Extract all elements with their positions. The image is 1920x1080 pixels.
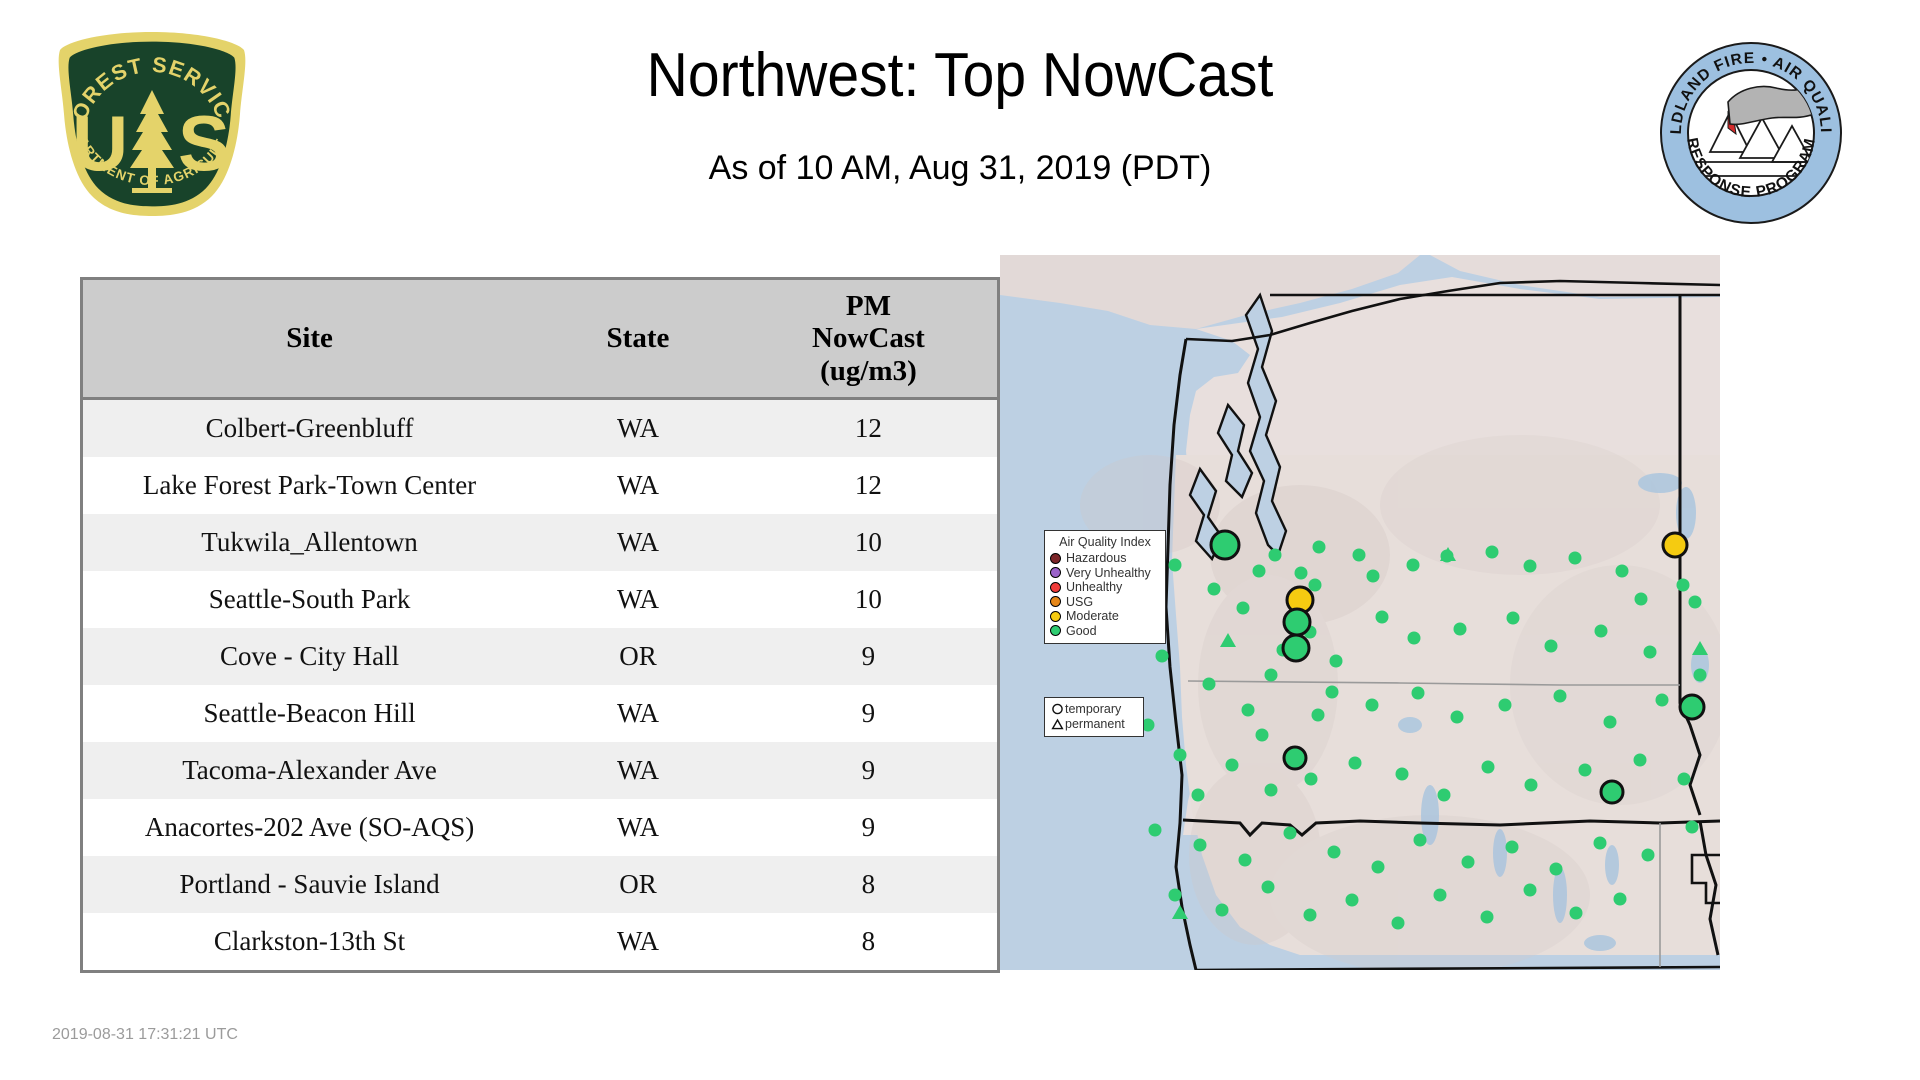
good-site-marker[interactable] [1554,690,1567,703]
wildland-fire-air-quality-logo: WILDLAND FIRE • AIR QUALITY RESPONSE PRO… [1658,40,1844,226]
cell-site: Tukwila_Allentown [83,514,536,571]
good-site-marker[interactable] [1304,909,1317,922]
legend-label-temporary: temporary [1065,702,1121,717]
table-row[interactable]: Lake Forest Park-Town CenterWA12 [83,457,997,514]
page-title: Northwest: Top NowCast [353,45,1567,107]
good-site-marker[interactable] [1507,612,1520,625]
legend-label-permanent: permanent [1065,717,1125,732]
good-site-marker[interactable] [1226,759,1239,772]
cell-site: Seattle-Beacon Hill [83,685,536,742]
us-forest-service-logo: FOREST SERVICE DEPARTMENT OF AGRICULTURE… [52,28,252,220]
good-site-marker[interactable] [1367,570,1380,583]
table-row[interactable]: Seattle-South ParkWA10 [83,571,997,628]
good-site-marker[interactable] [1642,849,1655,862]
circle-icon [1050,703,1065,716]
good-site-marker[interactable] [1462,856,1475,869]
cell-state: WA [536,799,740,856]
aqi-legend-row: USG [1050,595,1160,610]
cell-state: WA [536,399,740,458]
nowcast-table: Site State PM NowCast (ug/m3) Colbert-Gr… [83,280,997,970]
good-site-marker[interactable] [1408,632,1421,645]
good-site-marker[interactable] [1353,549,1366,562]
good-site-marker[interactable] [1392,917,1405,930]
good-site-marker[interactable] [1454,623,1467,636]
table-row[interactable]: Tacoma-Alexander AveWA9 [83,742,997,799]
good-site-marker[interactable] [1346,894,1359,907]
triangle-icon [1050,718,1065,731]
cell-pm: 9 [740,742,997,799]
good-site-marker[interactable] [1656,694,1669,707]
good-site-marker[interactable] [1506,841,1519,854]
top-site-marker[interactable] [1663,533,1687,557]
aqi-color-swatch-icon [1050,553,1061,564]
good-site-marker[interactable] [1482,761,1495,774]
cell-pm: 9 [740,628,997,685]
cell-site: Portland - Sauvie Island [83,856,536,913]
cell-state: OR [536,856,740,913]
good-site-marker[interactable] [1634,754,1647,767]
good-site-marker[interactable] [1414,834,1427,847]
good-site-marker[interactable] [1284,827,1297,840]
good-site-marker[interactable] [1372,861,1385,874]
cell-site: Cove - City Hall [83,628,536,685]
cell-state: WA [536,457,740,514]
good-site-marker[interactable] [1434,889,1447,902]
good-site-marker[interactable] [1694,669,1707,682]
cell-pm: 12 [740,399,997,458]
top-site-marker[interactable] [1680,695,1704,719]
top-site-marker[interactable] [1284,747,1306,769]
good-site-marker[interactable] [1550,863,1563,876]
nowcast-table-container: Site State PM NowCast (ug/m3) Colbert-Gr… [80,277,1000,973]
good-site-marker[interactable] [1194,839,1207,852]
svg-text:S: S [178,99,230,187]
aqi-color-swatch-icon [1050,625,1061,636]
top-site-marker[interactable] [1284,609,1310,635]
table-row[interactable]: Portland - Sauvie IslandOR8 [83,856,997,913]
good-site-marker[interactable] [1686,821,1699,834]
good-site-marker[interactable] [1237,602,1250,615]
table-head: Site State PM NowCast (ug/m3) [83,280,997,399]
cell-state: WA [536,742,740,799]
cell-site: Seattle-South Park [83,571,536,628]
good-site-marker[interactable] [1481,911,1494,924]
good-site-marker[interactable] [1349,757,1362,770]
good-site-marker[interactable] [1594,837,1607,850]
good-site-marker[interactable] [1313,541,1326,554]
good-site-marker[interactable] [1203,678,1216,691]
good-site-marker[interactable] [1441,550,1454,563]
good-site-marker[interactable] [1689,596,1702,609]
aqi-legend-label: USG [1066,595,1093,610]
aqi-legend-row: Moderate [1050,609,1160,624]
good-site-marker[interactable] [1604,716,1617,729]
table-row[interactable]: Clarkston-13th StWA8 [83,913,997,970]
good-site-marker[interactable] [1595,625,1608,638]
good-site-marker[interactable] [1616,565,1629,578]
good-site-marker[interactable] [1192,789,1205,802]
good-site-marker[interactable] [1524,560,1537,573]
good-site-marker[interactable] [1295,567,1308,580]
pm-header-line1: PM [744,290,993,322]
aqi-legend-items: HazardousVery UnhealthyUnhealthyUSGModer… [1050,551,1160,638]
cell-pm: 12 [740,457,997,514]
column-header-state[interactable]: State [536,280,740,399]
good-site-marker[interactable] [1242,704,1255,717]
aqi-legend-label: Very Unhealthy [1066,566,1151,581]
aqi-legend-row: Unhealthy [1050,580,1160,595]
good-site-marker[interactable] [1328,846,1341,859]
good-site-marker[interactable] [1438,789,1451,802]
cell-site: Tacoma-Alexander Ave [83,742,536,799]
aqi-color-swatch-icon [1050,611,1061,622]
cell-pm: 8 [740,913,997,970]
column-header-site[interactable]: Site [83,280,536,399]
good-site-marker[interactable] [1412,687,1425,700]
good-site-marker[interactable] [1305,773,1318,786]
aqi-color-swatch-icon [1050,596,1061,607]
good-site-marker[interactable] [1326,686,1339,699]
cell-state: OR [536,628,740,685]
aqi-legend: Air Quality Index HazardousVery Unhealth… [1044,530,1166,644]
table-row[interactable]: Cove - City HallOR9 [83,628,997,685]
svg-text:U: U [72,99,128,187]
good-site-marker[interactable] [1239,854,1252,867]
column-header-pm-nowcast[interactable]: PM NowCast (ug/m3) [740,280,997,399]
good-site-marker[interactable] [1309,579,1322,592]
aqi-legend-label: Unhealthy [1066,580,1122,595]
good-site-marker[interactable] [1614,893,1627,906]
site-type-legend: temporary permanent [1044,697,1144,737]
good-site-marker[interactable] [1376,611,1389,624]
good-site-marker[interactable] [1525,779,1538,792]
cell-state: WA [536,514,740,571]
good-site-marker[interactable] [1569,552,1582,565]
cell-state: WA [536,685,740,742]
table-row[interactable]: Anacortes-202 Ave (SO-AQS)WA9 [83,799,997,856]
good-site-marker[interactable] [1169,559,1182,572]
good-site-marker[interactable] [1635,593,1648,606]
cell-site: Lake Forest Park-Town Center [83,457,536,514]
page-header: FOREST SERVICE DEPARTMENT OF AGRICULTURE… [0,0,1920,225]
good-site-marker[interactable] [1330,655,1343,668]
table-body: Colbert-GreenbluffWA12Lake Forest Park-T… [83,399,997,971]
cell-site: Anacortes-202 Ave (SO-AQS) [83,799,536,856]
title-block: Northwest: Top NowCast As of 10 AM, Aug … [300,45,1620,188]
good-site-marker[interactable] [1149,824,1162,837]
good-site-marker[interactable] [1269,549,1282,562]
good-site-marker[interactable] [1545,640,1558,653]
air-quality-map[interactable]: Air Quality Index HazardousVery Unhealth… [1000,255,1720,970]
good-site-marker[interactable] [1265,669,1278,682]
good-site-marker[interactable] [1644,646,1657,659]
good-site-marker[interactable] [1312,709,1325,722]
good-site-marker[interactable] [1366,699,1379,712]
aqi-legend-row: Hazardous [1050,551,1160,566]
cell-state: WA [536,571,740,628]
pm-header-line3: (ug/m3) [744,355,993,387]
top-site-marker[interactable] [1211,531,1239,559]
table-header-row: Site State PM NowCast (ug/m3) [83,280,997,399]
cell-site: Clarkston-13th St [83,913,536,970]
good-site-marker[interactable] [1256,729,1269,742]
aqi-color-swatch-icon [1050,582,1061,593]
legend-row-temporary: temporary [1050,702,1138,717]
good-site-marker[interactable] [1499,699,1512,712]
good-site-marker[interactable] [1486,546,1499,559]
legend-row-permanent: permanent [1050,717,1138,732]
cell-pm: 10 [740,514,997,571]
good-site-marker[interactable] [1262,881,1275,894]
table-row[interactable]: Colbert-GreenbluffWA12 [83,399,997,458]
aqi-legend-label: Good [1066,624,1097,639]
good-site-marker[interactable] [1265,784,1278,797]
table-row[interactable]: Tukwila_AllentownWA10 [83,514,997,571]
cell-pm: 10 [740,571,997,628]
top-site-marker[interactable] [1601,781,1623,803]
good-site-marker[interactable] [1451,711,1464,724]
pm-header-line2: NowCast [744,322,993,354]
cell-state: WA [536,913,740,970]
good-site-marker[interactable] [1677,579,1690,592]
cell-pm: 9 [740,685,997,742]
top-site-marker[interactable] [1283,635,1309,661]
good-site-marker[interactable] [1407,559,1420,572]
aqi-legend-title: Air Quality Index [1050,535,1160,549]
good-site-marker[interactable] [1524,884,1537,897]
cell-site: Colbert-Greenbluff [83,399,536,458]
aqi-legend-row: Very Unhealthy [1050,566,1160,581]
page-subtitle: As of 10 AM, Aug 31, 2019 (PDT) [300,149,1620,188]
good-site-marker[interactable] [1174,749,1187,762]
good-site-marker[interactable] [1678,773,1691,786]
good-site-marker[interactable] [1208,583,1221,596]
good-site-marker[interactable] [1396,768,1409,781]
generation-timestamp: 2019-08-31 17:31:21 UTC [52,1026,238,1044]
good-site-marker[interactable] [1570,907,1583,920]
table-row[interactable]: Seattle-Beacon HillWA9 [83,685,997,742]
cell-pm: 9 [740,799,997,856]
aqi-legend-label: Moderate [1066,609,1119,624]
good-site-marker[interactable] [1169,889,1182,902]
cell-pm: 8 [740,856,997,913]
aqi-color-swatch-icon [1050,567,1061,578]
aqi-legend-row: Good [1050,624,1160,639]
good-site-marker[interactable] [1156,650,1169,663]
good-site-marker[interactable] [1579,764,1592,777]
aqi-legend-label: Hazardous [1066,551,1126,566]
good-site-marker[interactable] [1216,904,1229,917]
good-site-marker[interactable] [1253,565,1266,578]
